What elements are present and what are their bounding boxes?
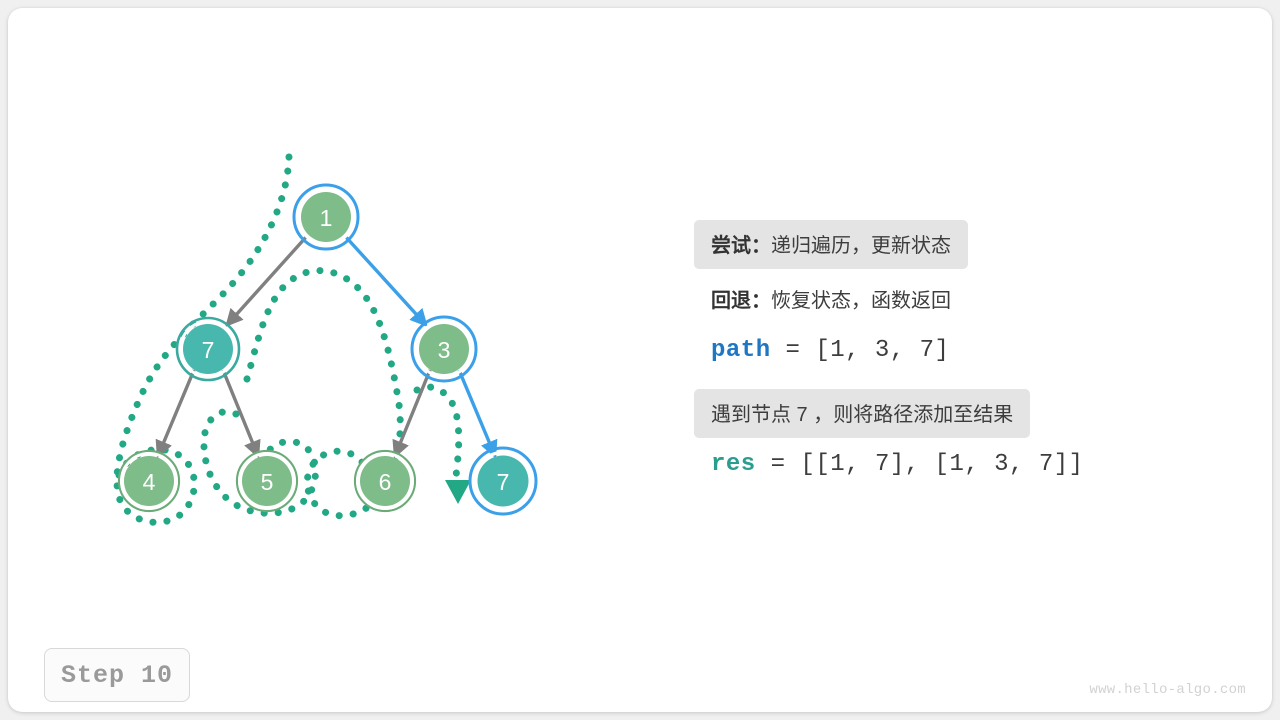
node-label: 6 <box>379 469 392 495</box>
res-variable-name: res <box>711 451 756 478</box>
path-seg-6-right <box>417 387 459 476</box>
node-label: 7 <box>497 469 510 495</box>
annotation-try-text: 递归遍历，更新状态 <box>771 235 951 257</box>
tree-node-5[interactable]: 5 <box>237 451 297 511</box>
step-badge: Step 10 <box>44 648 190 702</box>
path-variable-value: = [1, 3, 7] <box>771 337 950 364</box>
tree-node-6[interactable]: 6 <box>355 451 415 511</box>
path-variable-name: path <box>711 337 771 364</box>
annotation-backtrack-prefix: 回退： <box>711 290 771 312</box>
annotation-try-row: 尝试：递归遍历，更新状态 <box>694 220 1214 269</box>
tree-node-4[interactable]: 4 <box>119 451 179 511</box>
edge-3-6 <box>395 370 430 456</box>
edge-7left-4 <box>158 370 194 456</box>
annotation-panel: 尝试：递归遍历，更新状态 回退：恢复状态，函数返回 path = [1, 3, … <box>694 220 1214 487</box>
path-expression: path = [1, 3, 7] <box>694 330 1214 373</box>
annotation-backtrack-box: 回退：恢复状态，函数返回 <box>694 275 968 324</box>
node-label: 4 <box>143 469 156 495</box>
node-label: 5 <box>261 469 274 495</box>
tree-node-7-right[interactable]: 7 <box>470 448 536 514</box>
tree-node-7-left[interactable]: 7 <box>177 318 239 380</box>
annotation-try-prefix: 尝试： <box>711 235 771 257</box>
tree-node-3[interactable]: 3 <box>412 317 476 381</box>
res-expression: res = [[1, 7], [1, 3, 7]] <box>694 444 1214 487</box>
res-variable-value: = [[1, 7], [1, 3, 7]] <box>756 451 1084 478</box>
annotation-found-text: 遇到节点 7 ，则将路径添加至结果 <box>711 404 1013 426</box>
tree-node-1[interactable]: 1 <box>294 185 358 249</box>
node-label: 3 <box>438 337 451 363</box>
annotation-try-box: 尝试：递归遍历，更新状态 <box>694 220 968 269</box>
annotation-backtrack-row: 回退：恢复状态，函数返回 <box>694 275 1214 324</box>
edge-1-3 <box>345 236 426 325</box>
annotation-found-row: 遇到节点 7 ，则将路径添加至结果 <box>694 389 1214 438</box>
edge-7left-5 <box>223 370 258 456</box>
node-label: 7 <box>202 337 215 363</box>
annotation-backtrack-text: 恢复状态，函数返回 <box>771 290 951 312</box>
edge-3-7right <box>459 370 495 456</box>
cursor-marker-icon <box>445 480 471 504</box>
diagram-card: 1 7 3 4 5 <box>8 8 1272 712</box>
node-label: 1 <box>320 205 333 231</box>
annotation-found-box: 遇到节点 7 ，则将路径添加至结果 <box>694 389 1030 438</box>
watermark: www.hello-algo.com <box>1089 682 1246 698</box>
